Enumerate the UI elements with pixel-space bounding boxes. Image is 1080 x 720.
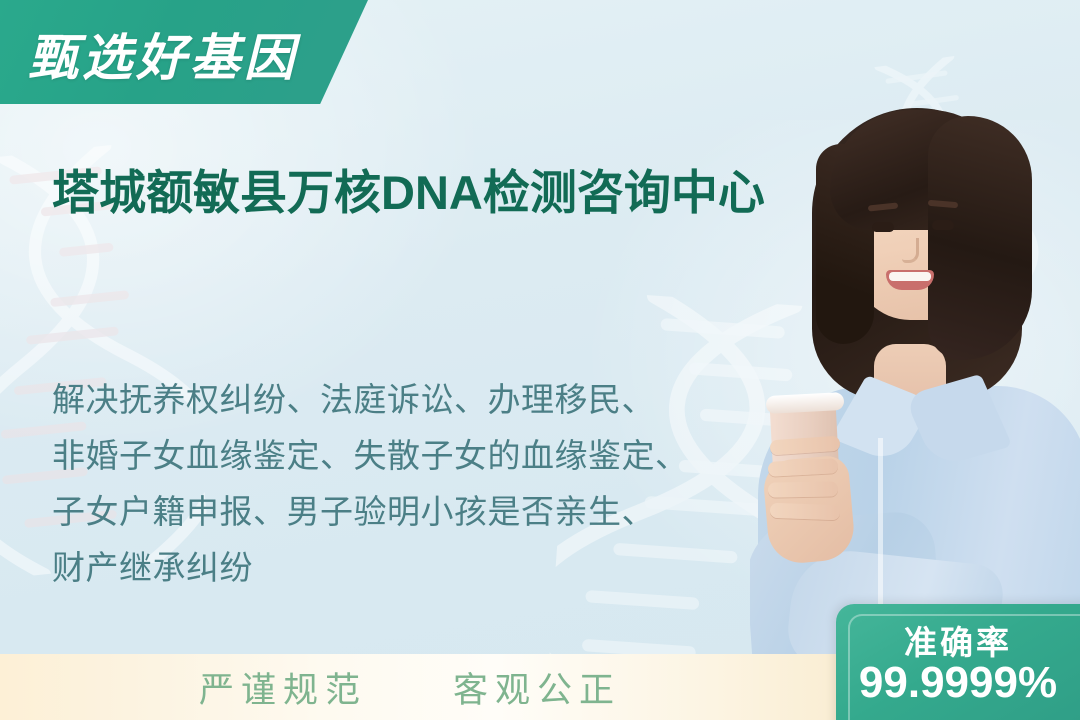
- eye-right: [932, 220, 954, 230]
- service-line: 子女户籍申报、男子验明小孩是否亲生、: [52, 484, 752, 540]
- accuracy-value: 99.9999%: [836, 658, 1080, 708]
- service-line: 解决抚养权纠纷、法庭诉讼、办理移民、: [52, 372, 752, 428]
- mouth: [886, 270, 934, 290]
- logo-text: 甄选好基因: [28, 18, 298, 90]
- finger: [770, 503, 840, 520]
- service-line: 财产继承纠纷: [52, 540, 752, 596]
- hair-sweep-right: [928, 116, 1032, 360]
- slogan-text: 严谨规范: [199, 662, 367, 713]
- finger: [768, 481, 838, 497]
- nose: [902, 238, 919, 263]
- slogan-text: 客观公正: [453, 662, 621, 713]
- accuracy-label: 准确率: [836, 616, 1080, 664]
- accuracy-badge: 准确率 99.9999%: [836, 604, 1080, 720]
- service-description: 解决抚养权纠纷、法庭诉讼、办理移民、 非婚子女血缘鉴定、失散子女的血缘鉴定、 子…: [52, 372, 752, 596]
- eye-left: [872, 222, 894, 232]
- page-title: 塔城额敏县万核DNA检测咨询中心: [52, 158, 822, 228]
- service-line: 非婚子女血缘鉴定、失散子女的血缘鉴定、: [52, 428, 752, 484]
- promo-banner: 甄选好基因 塔城额敏县万核DNA检测咨询中心 解决抚养权纠纷、法庭诉讼、办理移民…: [0, 0, 1080, 720]
- teeth: [889, 272, 931, 281]
